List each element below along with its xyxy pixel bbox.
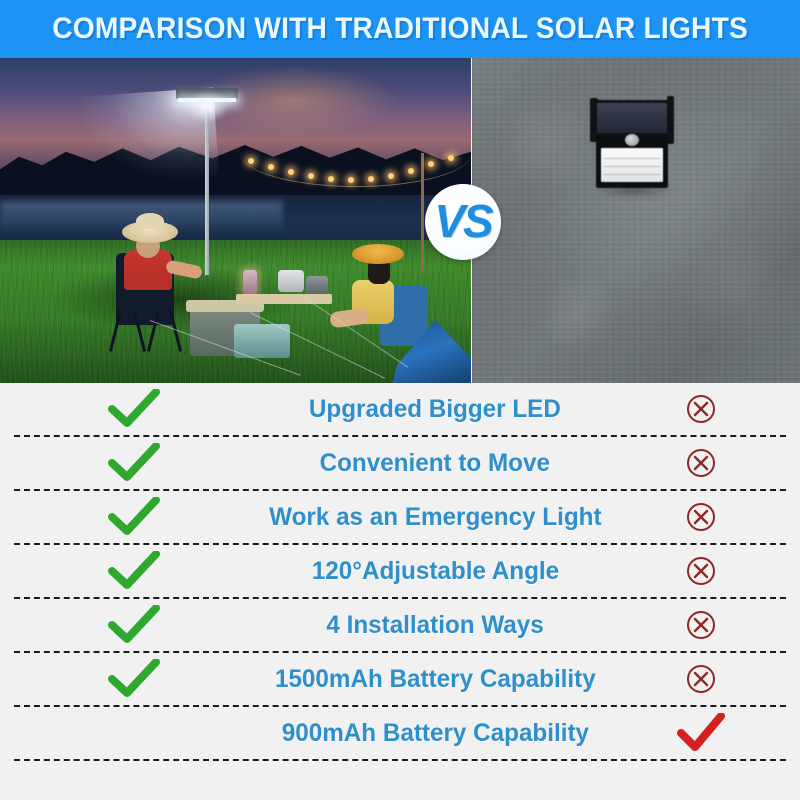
camp-kettle: [278, 270, 304, 292]
string-light-bulb: [448, 155, 454, 161]
header-banner: COMPARISON WITH TRADITIONAL SOLAR LIGHTS: [0, 0, 800, 58]
wall-blotch: [492, 98, 602, 188]
our-product-mark-cell: [14, 389, 254, 429]
solar-panel: [594, 100, 670, 136]
x-circle-red-icon: [685, 393, 717, 425]
table-bottom-padding: [14, 761, 786, 787]
motion-sensor: [625, 134, 639, 146]
table-row: Upgraded Bigger LED: [14, 383, 786, 437]
x-circle-red-icon: [685, 501, 717, 533]
traditional-mark-cell: [616, 713, 786, 753]
check-green-icon: [108, 497, 160, 537]
feature-label: 900mAh Battery Capability: [281, 719, 588, 748]
check-green-icon: [108, 443, 160, 483]
lamp-pole: [205, 100, 209, 275]
check-red-icon: [677, 713, 725, 753]
feature-label: Work as an Emergency Light: [269, 503, 601, 532]
table-row: 900mAh Battery Capability: [14, 707, 786, 761]
vs-label: VS: [434, 198, 491, 244]
x-circle-red-icon: [685, 555, 717, 587]
feature-cell: 1500mAh Battery Capability: [254, 665, 616, 694]
comparison-table: Upgraded Bigger LED Convenient to Move: [0, 383, 800, 800]
camp-lantern: [243, 270, 257, 294]
string-light-bulb: [328, 176, 334, 182]
string-light-bulb: [308, 173, 314, 179]
our-product-mark-cell: [14, 551, 254, 591]
no-mark: [134, 733, 135, 734]
feature-cell: Work as an Emergency Light: [254, 503, 616, 532]
feature-cell: Convenient to Move: [254, 449, 616, 478]
vs-badge: VS: [425, 184, 501, 260]
wall-solar-light-unit: [590, 86, 674, 192]
traditional-mark-cell: [616, 555, 786, 587]
string-light-bulb: [408, 168, 414, 174]
led-face-panel: [601, 148, 663, 182]
person-straw-hat: [122, 221, 178, 243]
product-comparison-infographic: COMPARISON WITH TRADITIONAL SOLAR LIGHTS: [0, 0, 800, 800]
string-light-bulb: [248, 158, 254, 164]
feature-label: 120°Adjustable Angle: [311, 557, 558, 586]
hero-image-strip: VS: [0, 58, 800, 383]
x-circle-red-icon: [685, 609, 717, 641]
string-light-bulb: [368, 176, 374, 182]
traditional-mark-cell: [616, 609, 786, 641]
traditional-mark-cell: [616, 663, 786, 695]
check-green-icon: [108, 389, 160, 429]
table-row: Work as an Emergency Light: [14, 491, 786, 545]
x-circle-red-icon: [685, 663, 717, 695]
our-product-mark-cell: [14, 733, 254, 734]
string-light-bulb: [268, 164, 274, 170]
x-circle-red-icon: [685, 447, 717, 479]
camp-pot: [306, 276, 328, 294]
person-orange-hat: [352, 244, 404, 264]
feature-cell: Upgraded Bigger LED: [254, 395, 616, 424]
feature-label: Convenient to Move: [320, 449, 550, 478]
table-row: 120°Adjustable Angle: [14, 545, 786, 599]
check-green-icon: [108, 551, 160, 591]
traditional-solar-light-photo: [472, 58, 800, 383]
traditional-mark-cell: [616, 501, 786, 533]
wall-blotch: [682, 238, 800, 348]
wall-blotch: [532, 278, 622, 348]
camping-scene-photo: [0, 58, 471, 383]
check-green-icon: [108, 659, 160, 699]
table-row: 4 Installation Ways: [14, 599, 786, 653]
string-light-bulb: [428, 161, 434, 167]
feature-cell: 900mAh Battery Capability: [254, 719, 616, 748]
feature-cell: 4 Installation Ways: [254, 611, 616, 640]
our-product-mark-cell: [14, 605, 254, 645]
feature-label: 1500mAh Battery Capability: [275, 665, 596, 694]
led-lamp-glow: [186, 92, 230, 122]
feature-cell: 120°Adjustable Angle: [254, 557, 616, 586]
table-row: 1500mAh Battery Capability: [14, 653, 786, 707]
our-product-mark-cell: [14, 443, 254, 483]
page-title: COMPARISON WITH TRADITIONAL SOLAR LIGHTS: [52, 12, 748, 46]
string-light-bulb: [288, 169, 294, 175]
string-light-bulb: [388, 173, 394, 179]
string-light-bulb: [348, 177, 354, 183]
table-row: Convenient to Move: [14, 437, 786, 491]
feature-label: 4 Installation Ways: [326, 611, 543, 640]
feature-label: Upgraded Bigger LED: [309, 395, 561, 424]
camp-chair-legs: [112, 310, 180, 350]
camp-table: [236, 294, 332, 304]
our-product-mark-cell: [14, 497, 254, 537]
string-light-pole: [421, 153, 424, 273]
traditional-mark-cell: [616, 447, 786, 479]
our-product-mark-cell: [14, 659, 254, 699]
traditional-mark-cell: [616, 393, 786, 425]
check-green-icon: [108, 605, 160, 645]
